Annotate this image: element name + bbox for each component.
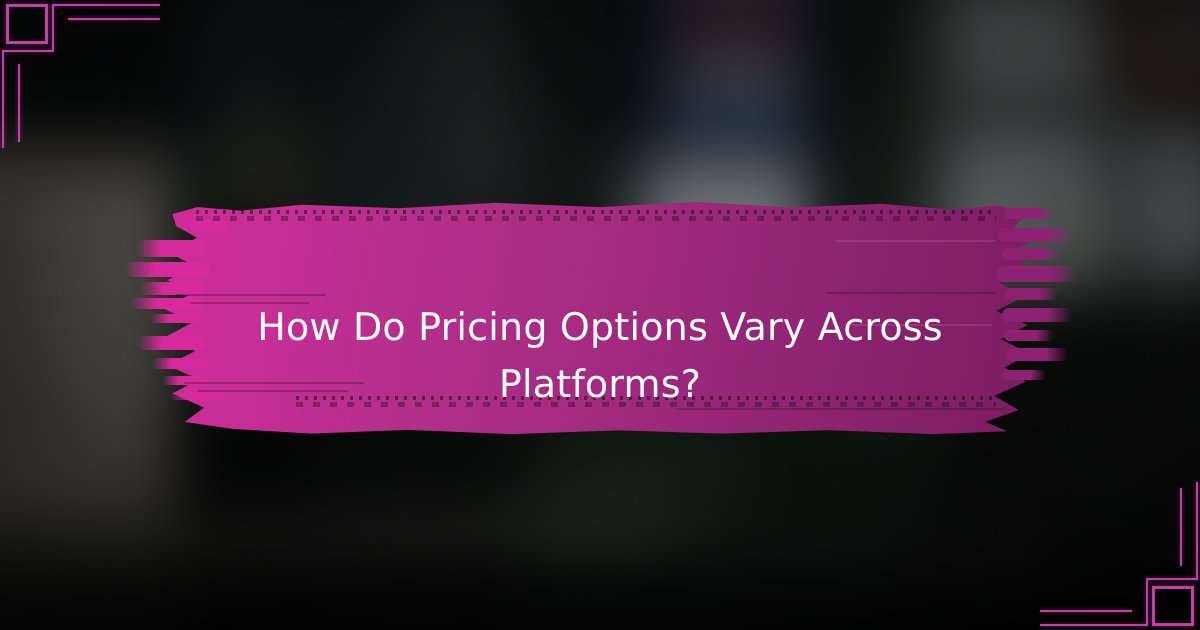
brush-streak (826, 292, 996, 294)
page-title-line-1: How Do Pricing Options Vary Across (257, 305, 943, 349)
brush-streak (836, 240, 996, 242)
brush-fringe-right (1002, 248, 1062, 260)
brush-fringe-right (1004, 208, 1056, 219)
page-title-line-2: Platforms? (196, 356, 1004, 413)
social-share-card: How Do Pricing Options Vary Across Platf… (0, 0, 1200, 630)
brush-fringe-right (998, 228, 1074, 242)
brush-streak (176, 294, 326, 296)
brush-texture-top (196, 208, 996, 222)
page-title: How Do Pricing Options Vary Across Platf… (136, 299, 1064, 413)
brush-fringe-left (136, 240, 206, 257)
brush-fringe-right (996, 266, 1078, 282)
brush-fringe-right (1004, 288, 1058, 300)
brush-fringe-left (124, 262, 210, 277)
title-banner: How Do Pricing Options Vary Across Platf… (136, 186, 1064, 448)
